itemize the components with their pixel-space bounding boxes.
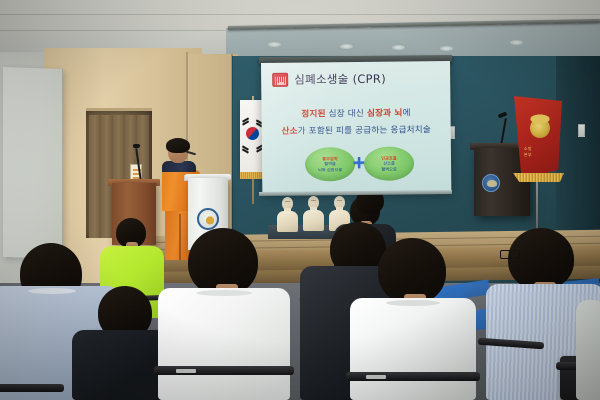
slide-body-line-1: 정지된 심장 대신 심장과 뇌에 bbox=[261, 106, 450, 120]
ellipse-right-bottom: 혈액으로 bbox=[381, 166, 396, 171]
ceiling-downlight bbox=[340, 44, 353, 49]
ceiling-downlight bbox=[268, 42, 281, 47]
slide-ellipse-ventilation: 인공호흡 산소를 혈액으로 bbox=[364, 146, 414, 181]
slide-line1-post: 에 bbox=[403, 108, 411, 118]
ellipse-left-bottom: 뇌와 심장으로 bbox=[318, 167, 342, 173]
chair-label-tag bbox=[366, 375, 386, 379]
slide-ellipse-compression: 흉부압박 혈액을 뇌와 심장으로 bbox=[305, 147, 355, 182]
chair-label-tag bbox=[176, 369, 196, 373]
ceremonial-flag-fringe bbox=[512, 173, 564, 182]
ceremonial-flag-text: 소방본부 bbox=[521, 146, 535, 159]
person-torso bbox=[158, 288, 290, 400]
korean-national-flag bbox=[240, 100, 264, 174]
ceremonial-flag bbox=[514, 96, 562, 180]
slide-title: 심폐소생술 (CPR) bbox=[294, 71, 386, 88]
chair-backrest[interactable] bbox=[154, 366, 294, 375]
ceiling-downlight bbox=[510, 40, 523, 45]
slide-line1-highlight: 정지된 bbox=[301, 109, 325, 119]
slide-line2-highlight: 산소 bbox=[281, 127, 297, 137]
slide-line2-post: 가 포함된 피를 공급하는 응급처치술 bbox=[298, 125, 431, 136]
podium-emblem-icon bbox=[197, 208, 219, 230]
ceremonial-flag-emblem-icon bbox=[530, 118, 550, 138]
taeguk-icon bbox=[244, 125, 262, 143]
person-torso bbox=[576, 300, 600, 400]
person-collar bbox=[196, 290, 252, 296]
projection-screen: 심폐소생술 (CPR) 정지된 심장 대신 심장과 뇌에 산소가 포함된 피를 … bbox=[261, 61, 451, 194]
ceiling-downlight bbox=[440, 46, 453, 51]
slide-body-line-2: 산소가 포함된 피를 공급하는 응급처치술 bbox=[262, 123, 451, 137]
chair-backrest[interactable] bbox=[0, 384, 64, 392]
red-cross-shield-icon bbox=[272, 73, 288, 87]
cpr-manikin bbox=[276, 197, 298, 231]
person-collar bbox=[28, 288, 76, 294]
slide-line1-mid: 심장 대신 bbox=[326, 109, 367, 119]
person-collar bbox=[386, 300, 440, 306]
wall-switch-plate[interactable] bbox=[578, 124, 585, 137]
ceiling-panel-seam bbox=[0, 14, 600, 15]
glasses-icon bbox=[500, 250, 520, 257]
slide-line1-highlight-2: 심장과 뇌 bbox=[367, 109, 403, 119]
lectern-emblem-icon bbox=[482, 174, 500, 192]
lecture-room-scene: 심폐소생술 (CPR) 정지된 심장 대신 심장과 뇌에 산소가 포함된 피를 … bbox=[0, 0, 600, 400]
person-torso bbox=[350, 298, 476, 400]
cpr-manikin bbox=[302, 196, 324, 230]
flag-fringe bbox=[240, 172, 264, 179]
instructor-leg-seam bbox=[179, 214, 181, 260]
person-head bbox=[508, 228, 574, 290]
ceiling-downlight bbox=[392, 45, 405, 50]
whiteboard-panel bbox=[3, 67, 63, 259]
